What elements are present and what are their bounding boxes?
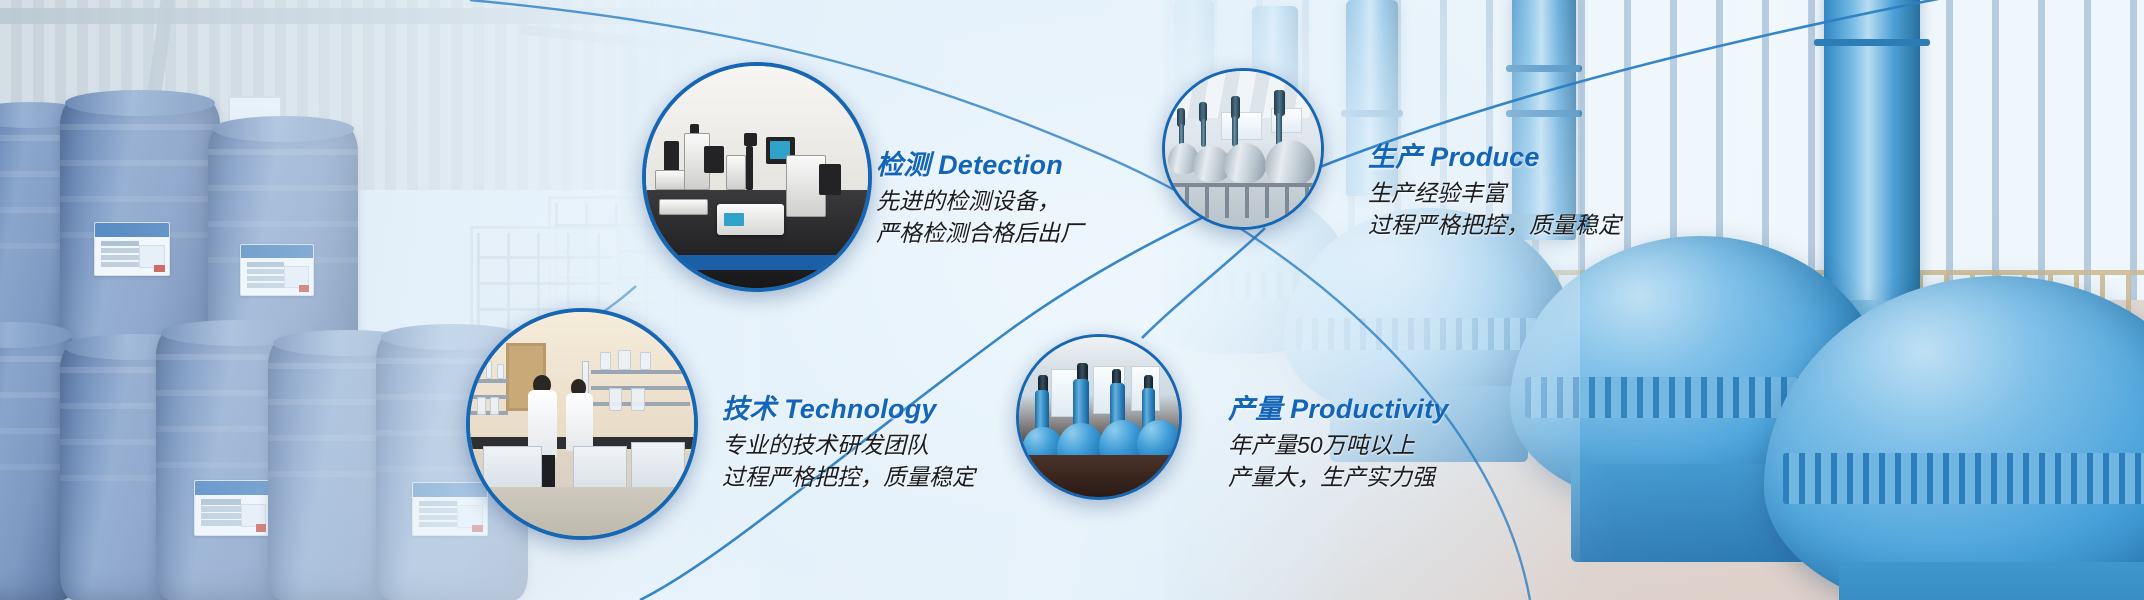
detection-photo-circle[interactable] (642, 62, 872, 292)
technology-line-2: 过程严格把控，质量稳定 (722, 461, 975, 493)
technology-text-block: 技术 Technology 专业的技术研发团队 过程严格把控，质量稳定 (722, 392, 975, 493)
detection-heading: 检测 Detection (876, 148, 1083, 182)
technology-line-1: 专业的技术研发团队 (722, 429, 975, 461)
technology-heading: 技术 Technology (722, 392, 975, 426)
laboratory-testing-equipment-photo (646, 66, 868, 288)
productivity-heading: 产量 Productivity (1228, 392, 1449, 426)
detection-line-2: 严格检测合格后出厂 (876, 217, 1083, 249)
produce-heading: 生产 Produce (1368, 140, 1621, 174)
technology-photo-circle[interactable] (466, 308, 698, 540)
produce-heading-en: Produce (1430, 142, 1539, 172)
technology-heading-en: Technology (784, 394, 937, 424)
rnd-laboratory-technicians-photo (470, 312, 694, 536)
technician-lab-coat (566, 393, 593, 451)
productivity-heading-en: Productivity (1290, 394, 1448, 424)
connector-arcs (0, 0, 2144, 600)
technology-heading-cn: 技术 (722, 394, 776, 424)
company-strengths-banner: 检测 Detection 先进的检测设备， 严格检测合格后出厂 生产 Produ… (0, 0, 2144, 600)
production-workshop-reactors-photo (1165, 71, 1321, 227)
detection-text-block: 检测 Detection 先进的检测设备， 严格检测合格后出厂 (876, 148, 1083, 249)
produce-heading-cn: 生产 (1368, 142, 1422, 172)
blue-reactor-tanks-photo (1019, 337, 1179, 497)
detection-heading-en: Detection (938, 150, 1063, 180)
detection-line-1: 先进的检测设备， (876, 185, 1083, 217)
connector-produce-productivity (1142, 228, 1265, 338)
produce-line-2: 过程严格把控，质量稳定 (1368, 209, 1621, 241)
produce-line-1: 生产经验丰富 (1368, 177, 1621, 209)
detection-heading-cn: 检测 (876, 150, 930, 180)
productivity-heading-cn: 产量 (1228, 394, 1282, 424)
produce-photo-circle[interactable] (1162, 68, 1324, 230)
productivity-text-block: 产量 Productivity 年产量50万吨以上 产量大，生产实力强 (1228, 392, 1449, 493)
productivity-line-1: 年产量50万吨以上 (1228, 429, 1449, 461)
productivity-line-2: 产量大，生产实力强 (1228, 461, 1449, 493)
produce-text-block: 生产 Produce 生产经验丰富 过程严格把控，质量稳定 (1368, 140, 1621, 241)
productivity-photo-circle[interactable] (1016, 334, 1182, 500)
